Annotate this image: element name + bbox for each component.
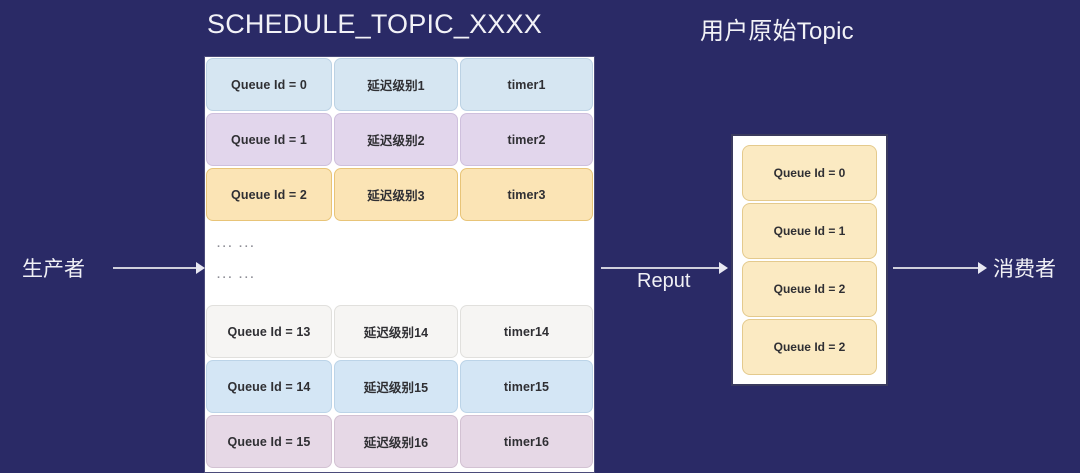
queue-id-cell: Queue Id = 15 [206, 415, 332, 468]
table-row: Queue Id = 2 延迟级别3 timer3 [205, 167, 594, 222]
table-row: Queue Id = 0 延迟级别1 timer1 [205, 57, 594, 112]
timer-cell: timer3 [460, 168, 593, 221]
queue-id-cell: Queue Id = 13 [206, 305, 332, 358]
origin-queue-box: Queue Id = 0 [742, 145, 877, 201]
delay-level-cell: 延迟级别2 [334, 113, 458, 166]
producer-label: 生产者 [22, 253, 85, 283]
origin-queue-box: Queue Id = 2 [742, 261, 877, 317]
origin-topic-title: 用户原始Topic [700, 11, 854, 46]
timer-cell: timer14 [460, 305, 593, 358]
arrow-head [196, 262, 205, 274]
origin-queue-box: Queue Id = 2 [742, 319, 877, 375]
delay-level-cell: 延迟级别1 [334, 58, 458, 111]
table-row: Queue Id = 1 延迟级别2 timer2 [205, 112, 594, 167]
origin-topic-panel: Queue Id = 0 Queue Id = 1 Queue Id = 2 Q… [731, 134, 888, 386]
timer-cell: timer1 [460, 58, 593, 111]
arrow-head [719, 262, 728, 274]
consumer-label: 消费者 [993, 253, 1056, 283]
origin-queue-box: Queue Id = 1 [742, 203, 877, 259]
queue-id-cell: Queue Id = 0 [206, 58, 332, 111]
producer-arrow-icon [113, 262, 205, 274]
timer-cell: timer2 [460, 113, 593, 166]
queue-id-cell: Queue Id = 14 [206, 360, 332, 413]
delay-level-cell: 延迟级别16 [334, 415, 458, 468]
arrow-shaft [893, 267, 979, 269]
arrow-head [978, 262, 987, 274]
delay-level-cell: 延迟级别15 [334, 360, 458, 413]
schedule-topic-title: SCHEDULE_TOPIC_XXXX [207, 9, 542, 40]
consumer-arrow-icon [893, 262, 987, 274]
ellipsis-line: ··· ··· [217, 273, 594, 284]
arrow-shaft [113, 267, 197, 269]
reput-label: Reput [637, 270, 690, 293]
timer-cell: timer15 [460, 360, 593, 413]
ellipsis-line: ··· ··· [217, 242, 594, 253]
timer-cell: timer16 [460, 415, 593, 468]
delay-level-cell: 延迟级别14 [334, 305, 458, 358]
queue-id-cell: Queue Id = 1 [206, 113, 332, 166]
schedule-topic-table: Queue Id = 0 延迟级别1 timer1 Queue Id = 1 延… [204, 56, 595, 473]
table-row: Queue Id = 14 延迟级别15 timer15 [205, 359, 594, 414]
queue-id-cell: Queue Id = 2 [206, 168, 332, 221]
table-row: Queue Id = 13 延迟级别14 timer14 [205, 304, 594, 359]
delay-level-cell: 延迟级别3 [334, 168, 458, 221]
table-row: Queue Id = 15 延迟级别16 timer16 [205, 414, 594, 469]
arrow-shaft [601, 267, 720, 269]
table-ellipsis-rows: ··· ··· ··· ··· [205, 222, 594, 304]
